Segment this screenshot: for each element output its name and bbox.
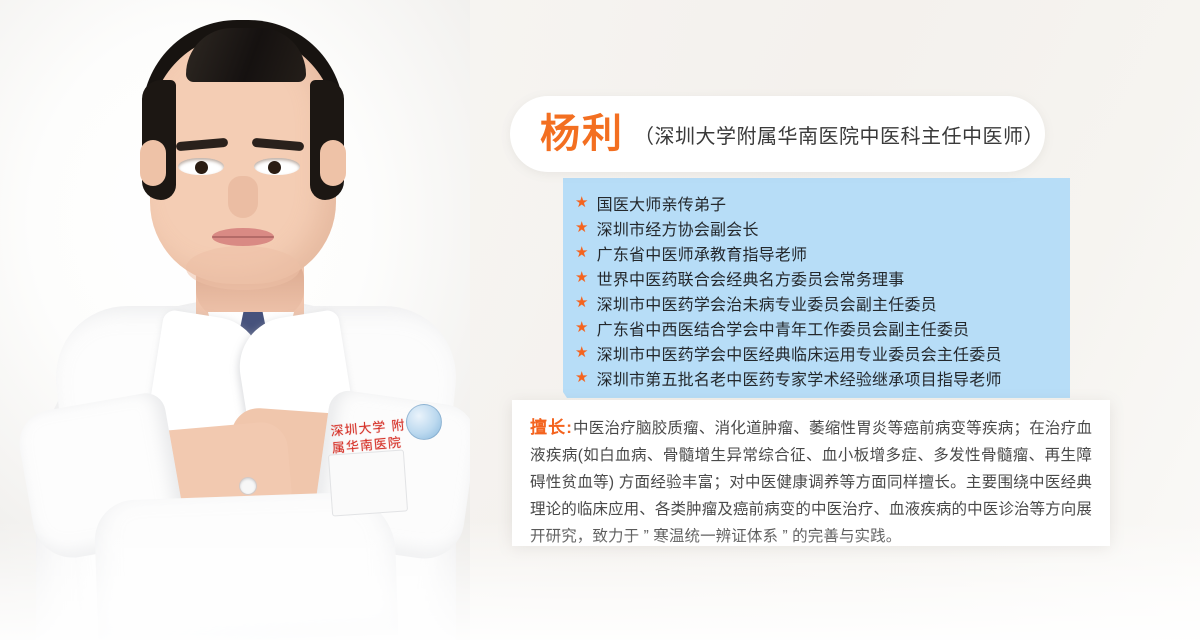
list-item: ★ 广东省中西医结合学会中青年工作委员会副主任委员 [575, 315, 1070, 340]
credential-label: 世界中医药联合会经典名方委员会常务理事 [597, 266, 905, 290]
credential-label: 深圳市第五批名老中医药专家学术经验继承项目指导老师 [597, 366, 1002, 390]
coat-button [240, 478, 256, 494]
doctor-name-card: 杨利 （深圳大学附属华南医院中医科主任中医师） [510, 96, 1045, 172]
nose [228, 176, 258, 218]
list-item: ★ 世界中医药联合会经典名方委员会常务理事 [575, 265, 1070, 290]
credentials-list: ★ 国医大师亲传弟子 ★ 深圳市经方协会副会长 ★ 广东省中医师承教育指导老师 … [563, 178, 1070, 398]
bottom-fade-overlay [0, 520, 1200, 640]
credential-label: 广东省中西医结合学会中青年工作委员会副主任委员 [597, 316, 970, 340]
chin [186, 246, 300, 290]
star-icon: ★ [575, 370, 589, 385]
list-item: ★ 深圳市中医药学会中医经典临床运用专业委员会主任委员 [575, 340, 1070, 365]
star-icon: ★ [575, 345, 589, 360]
star-icon: ★ [575, 195, 589, 210]
credential-label: 深圳市经方协会副会长 [597, 216, 759, 240]
credential-label: 深圳市中医药学会中医经典临床运用专业委员会主任委员 [597, 341, 1002, 365]
list-item: ★ 深圳市经方协会副会长 [575, 215, 1070, 240]
page-title: 杨利 [540, 114, 624, 154]
credential-label: 国医大师亲传弟子 [597, 191, 727, 215]
star-icon: ★ [575, 220, 589, 235]
star-icon: ★ [575, 320, 589, 335]
mouth-line [212, 236, 274, 238]
list-item: ★ 深圳市中医药学会治未病专业委员会副主任委员 [575, 290, 1070, 315]
credential-label: 深圳市中医药学会治未病专业委员会副主任委员 [597, 291, 937, 315]
ear-left [140, 140, 166, 186]
doctor-title-label: （深圳大学附属华南医院中医科主任中医师） [634, 120, 1044, 149]
pupil-left [195, 161, 208, 174]
list-item: ★ 深圳市第五批名老中医药专家学术经验继承项目指导老师 [575, 365, 1070, 390]
list-item: ★ 广东省中医师承教育指导老师 [575, 240, 1070, 265]
list-item: ★ 国医大师亲传弟子 [575, 190, 1070, 215]
doctor-profile-banner: 深圳大学 附属华南医院 ★ 国医大师亲传弟子 ★ 深圳市经方协会副会长 ★ 广东… [0, 0, 1200, 640]
pupil-right [268, 161, 281, 174]
hospital-badge-icon [406, 404, 442, 440]
star-icon: ★ [575, 245, 589, 260]
star-icon: ★ [575, 270, 589, 285]
star-icon: ★ [575, 295, 589, 310]
specialty-label: 擅长: [530, 418, 573, 437]
ear-right [320, 140, 346, 186]
credential-label: 广东省中医师承教育指导老师 [597, 241, 808, 265]
